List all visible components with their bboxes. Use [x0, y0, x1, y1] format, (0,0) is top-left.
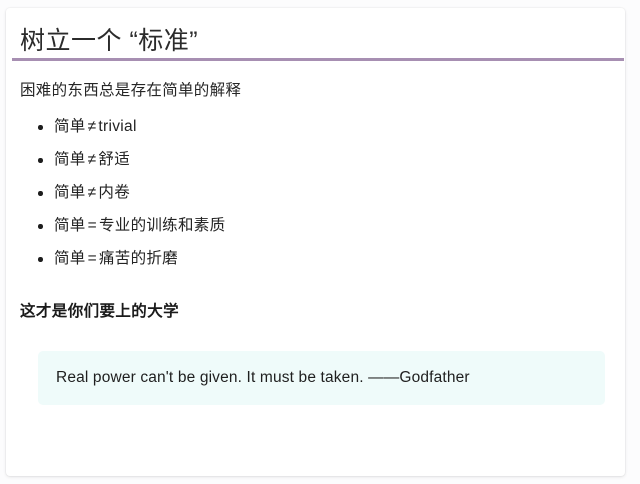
quote-text: Real power can't be given. It must be ta…	[56, 367, 470, 389]
lead-paragraph: 困难的东西总是存在简单的解释	[20, 78, 617, 104]
list-item-predicate: 舒适	[98, 151, 130, 168]
page-title: 树立一个 “标准”	[20, 21, 198, 61]
list-item-subject: 简单	[54, 184, 86, 201]
list-item-operator: =	[86, 250, 99, 267]
list-item-subject: 简单	[54, 250, 86, 267]
list-item-predicate: 痛苦的折磨	[99, 250, 178, 267]
list-item-operator: =	[86, 217, 99, 234]
slide-card: 树立一个 “标准” 困难的东西总是存在简单的解释 简单≠trivial 简单≠舒…	[6, 8, 625, 476]
list-item: 简单≠trivial	[20, 110, 617, 143]
list-item-predicate: 专业的训练和素质	[99, 217, 225, 234]
list-item-predicate: trivial	[98, 118, 136, 135]
list-item-subject: 简单	[54, 217, 86, 234]
slide-body: 困难的东西总是存在简单的解释 简单≠trivial 简单≠舒适 简单≠内卷 简单…	[20, 70, 617, 325]
bullet-list: 简单≠trivial 简单≠舒适 简单≠内卷 简单=专业的训练和素质 简单=痛苦…	[20, 110, 617, 275]
list-item: 简单=专业的训练和素质	[20, 209, 617, 242]
list-item-operator: ≠	[86, 184, 99, 201]
emphasis-line: 这才是你们要上的大学	[20, 299, 617, 325]
list-item-subject: 简单	[54, 118, 86, 135]
list-item-subject: 简单	[54, 151, 86, 168]
title-divider	[12, 58, 624, 61]
list-item: 简单≠内卷	[20, 176, 617, 209]
quote-callout-box: Real power can't be given. It must be ta…	[38, 351, 605, 405]
list-item: 简单=痛苦的折磨	[20, 242, 617, 275]
list-item-operator: ≠	[86, 118, 99, 135]
list-item: 简单≠舒适	[20, 143, 617, 176]
list-item-predicate: 内卷	[98, 184, 130, 201]
list-item-operator: ≠	[86, 151, 99, 168]
